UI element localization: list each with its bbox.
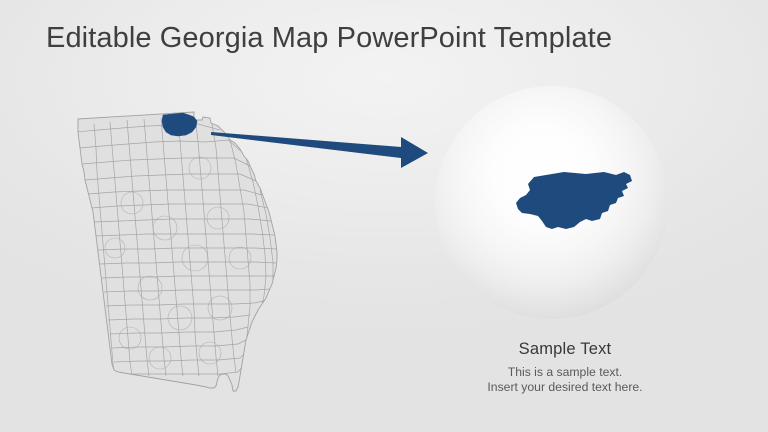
caption-title: Sample Text	[440, 339, 690, 359]
callout-arrow	[196, 118, 436, 168]
slide-canvas: Editable Georgia Map PowerPoint Template	[0, 0, 768, 432]
caption-line-1: This is a sample text.	[440, 365, 690, 380]
caption-line-2: Insert your desired text here.	[440, 380, 690, 395]
zoomed-county[interactable]	[508, 169, 634, 249]
page-title: Editable Georgia Map PowerPoint Template	[46, 22, 612, 55]
arrow-svg	[196, 118, 436, 168]
arrow-shape	[211, 132, 428, 168]
caption-body: This is a sample text. Insert your desir…	[440, 365, 690, 395]
callout-caption: Sample Text This is a sample text. Inser…	[440, 339, 690, 395]
zoomed-county-shape	[516, 172, 632, 229]
zoomed-county-svg	[508, 169, 634, 249]
